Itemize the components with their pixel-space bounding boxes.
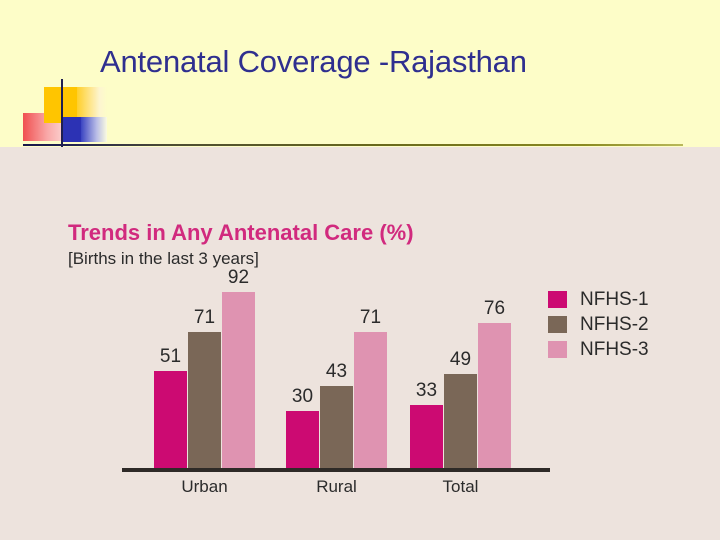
chart-subtitle: [Births in the last 3 years] <box>68 249 259 269</box>
chart-panel: Trends in Any Antenatal Care (%) [Births… <box>0 147 720 540</box>
chart-title: Trends in Any Antenatal Care (%) <box>68 220 414 246</box>
bar-rect <box>444 374 477 468</box>
bar-group-total: 334976Total <box>410 277 511 468</box>
legend-item-nfhs-2[interactable]: NFHS-2 <box>548 312 649 337</box>
header-band: Antenatal Coverage -Rajasthan <box>0 0 720 147</box>
bar-group-urban: 517192Urban <box>154 277 255 468</box>
bar-urban-nfhs-3[interactable]: 92 <box>222 277 255 468</box>
bar-rural-nfhs-2[interactable]: 43 <box>320 277 353 468</box>
bar-chart-plot: 517192Urban304371Rural334976Total <box>122 277 550 472</box>
bar-urban-nfhs-2[interactable]: 71 <box>188 277 221 468</box>
legend-label: NFHS-1 <box>580 289 649 311</box>
page-title: Antenatal Coverage -Rajasthan <box>100 44 527 80</box>
bar-total-nfhs-1[interactable]: 33 <box>410 277 443 468</box>
bar-rect <box>222 292 255 468</box>
bar-value-label: 76 <box>465 298 525 320</box>
bar-rect <box>188 332 221 468</box>
bar-rect <box>154 371 187 468</box>
x-axis-label-total: Total <box>381 477 541 497</box>
bar-rect <box>354 332 387 468</box>
bar-rect <box>478 323 511 468</box>
bar-group-rural: 304371Rural <box>286 277 387 468</box>
bar-value-label: 92 <box>209 267 269 289</box>
bar-rect <box>286 411 319 468</box>
legend-item-nfhs-1[interactable]: NFHS-1 <box>548 287 649 312</box>
legend-swatch-icon <box>548 341 567 358</box>
header-divider-rule <box>23 144 683 146</box>
decorative-vertical-rule <box>61 79 63 147</box>
bar-rural-nfhs-3[interactable]: 71 <box>354 277 387 468</box>
bar-value-label: 71 <box>341 307 401 329</box>
x-axis-line <box>122 468 550 472</box>
slide: Antenatal Coverage -Rajasthan Trends in … <box>0 0 720 540</box>
legend-item-nfhs-3[interactable]: NFHS-3 <box>548 337 649 362</box>
legend-swatch-icon <box>548 291 567 308</box>
legend-label: NFHS-3 <box>580 339 649 361</box>
bar-rect <box>410 405 443 468</box>
bar-urban-nfhs-1[interactable]: 51 <box>154 277 187 468</box>
bar-total-nfhs-3[interactable]: 76 <box>478 277 511 468</box>
decorative-blue-fade <box>81 117 107 142</box>
chart-legend: NFHS-1NFHS-2NFHS-3 <box>548 287 649 362</box>
decorative-blue-block <box>62 117 82 142</box>
bar-rect <box>320 386 353 468</box>
legend-swatch-icon <box>548 316 567 333</box>
legend-label: NFHS-2 <box>580 314 649 336</box>
